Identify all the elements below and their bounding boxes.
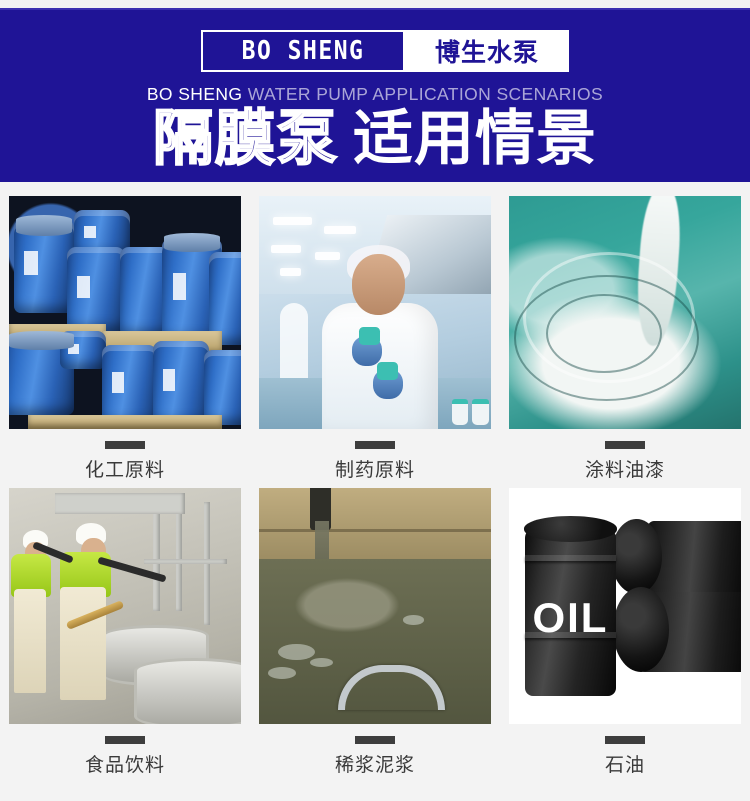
brand-logo: BO SHENG 博生水泵 xyxy=(201,30,569,72)
paint-swirl-photo xyxy=(509,196,741,429)
caption-dash xyxy=(355,441,395,449)
headline-outline-text: 隔膜泵 xyxy=(153,104,339,174)
scenario-caption: 化工原料 xyxy=(85,455,165,482)
scenario-cell-pharmaceutical[interactable]: 制药原料 xyxy=(250,190,500,482)
banner-subtitle: BO SHENG WATER PUMP APPLICATION SCENARIO… xyxy=(0,84,750,105)
headline-solid-text: 适用情景 xyxy=(353,104,597,174)
scenario-caption: 涂料油漆 xyxy=(585,455,665,482)
caption-dash xyxy=(605,736,645,744)
scenario-cell-slurry[interactable]: 稀浆泥浆 xyxy=(250,482,500,782)
chemical-drums-photo xyxy=(9,196,241,429)
logo-chinese-text: 博生水泵 xyxy=(435,33,539,69)
scenario-cell-paint[interactable]: 涂料油漆 xyxy=(500,190,750,482)
logo-english-plate: BO SHENG xyxy=(201,30,405,72)
scenario-cell-chemical[interactable]: 化工原料 xyxy=(0,190,250,482)
oil-drum-label: OIL xyxy=(525,597,615,639)
pharma-lab-photo xyxy=(259,196,491,429)
oil-drums-photo: OIL xyxy=(509,488,741,724)
caption-dash xyxy=(605,441,645,449)
scenario-cell-food-beverage[interactable]: 食品饮料 xyxy=(0,482,250,782)
logo-chinese-plate: 博生水泵 xyxy=(405,30,569,72)
logo-english-text: BO SHENG xyxy=(242,36,365,65)
banner-headline: 隔膜泵适用情景 xyxy=(0,106,750,172)
grid-row: 化工原料 xyxy=(0,190,750,482)
scenario-caption: 石油 xyxy=(605,750,645,777)
scenario-caption: 稀浆泥浆 xyxy=(335,750,415,777)
caption-dash xyxy=(105,441,145,449)
scenario-cell-petroleum[interactable]: OIL 石油 xyxy=(500,482,750,782)
subtitle-brand: BO SHENG xyxy=(147,84,243,104)
slurry-discharge-photo xyxy=(259,488,491,724)
scenario-caption: 制药原料 xyxy=(335,455,415,482)
scenario-caption: 食品饮料 xyxy=(85,750,165,777)
caption-dash xyxy=(105,736,145,744)
product-application-banner-page: BO SHENG 博生水泵 BO SHENG WATER PUMP APPLIC… xyxy=(0,0,750,801)
grid-row: 食品饮料 稀浆泥浆 xyxy=(0,482,750,782)
caption-dash xyxy=(355,736,395,744)
application-scenario-grid: 化工原料 xyxy=(0,190,750,801)
subtitle-rest: WATER PUMP APPLICATION SCENARIOS xyxy=(242,84,603,104)
food-plant-photo xyxy=(9,488,241,724)
header-banner: BO SHENG 博生水泵 BO SHENG WATER PUMP APPLIC… xyxy=(0,8,750,182)
oil-drum-front: OIL xyxy=(525,528,615,696)
